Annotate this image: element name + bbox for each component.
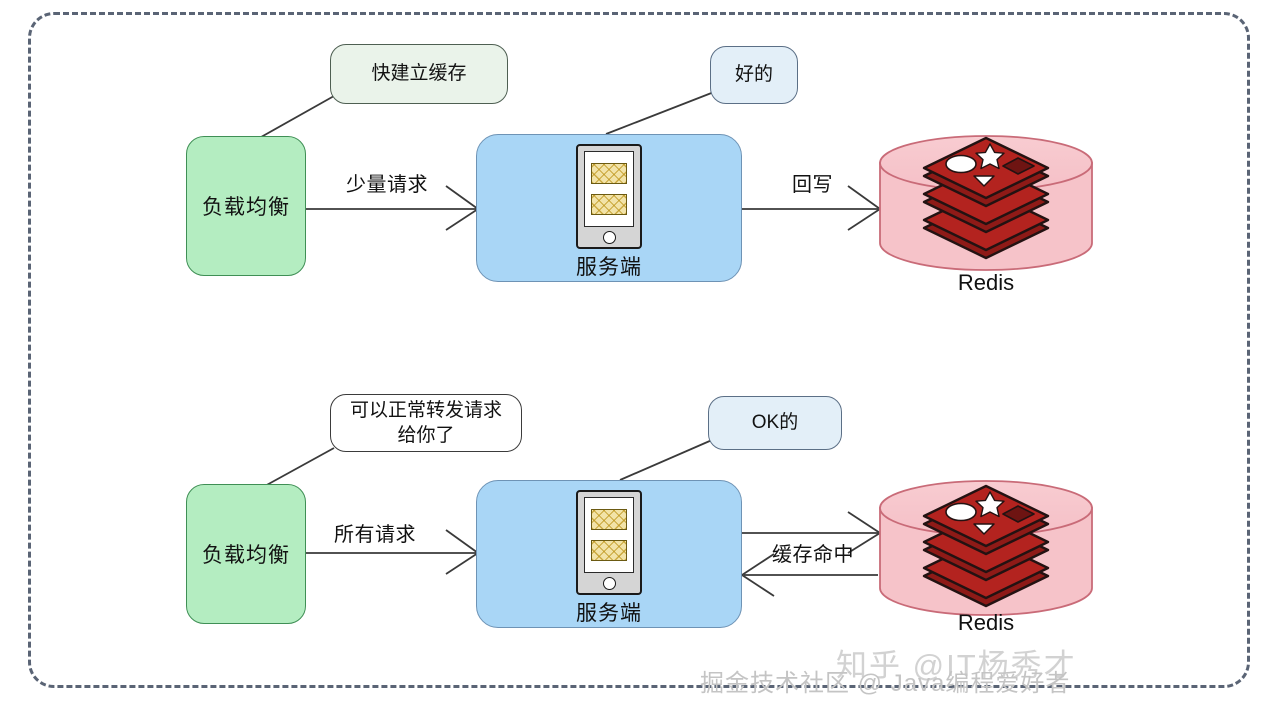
- edge-label-cache-hit-text: 缓存命中: [772, 544, 854, 566]
- load-balancer-top-label: 负载均衡: [202, 191, 290, 221]
- phone-device-icon-bottom: [576, 490, 642, 595]
- phone-home-button-bottom: [603, 577, 616, 590]
- server-top: 服务端: [476, 134, 742, 282]
- edge-label-cache-hit: 缓存命中: [772, 538, 854, 567]
- edge-label-few-requests: 少量请求: [346, 168, 428, 197]
- server-bottom: 服务端: [476, 480, 742, 628]
- phone-content-bar-2-top: [591, 194, 627, 215]
- edge-label-few-requests-text: 少量请求: [346, 174, 428, 196]
- server-bottom-label: 服务端: [576, 597, 642, 627]
- callout-build-cache-label: 快建立缓存: [371, 61, 466, 86]
- edge-label-all-requests: 所有请求: [334, 518, 416, 547]
- redis-caption-top: Redis: [906, 270, 1066, 296]
- callout-forward-requests-line1: 可以正常转发请求: [350, 398, 502, 423]
- callout-ok-top: 好的: [710, 46, 798, 104]
- callout-ok-top-label: 好的: [735, 62, 773, 87]
- redis-caption-bottom: Redis: [906, 610, 1066, 636]
- diagram-canvas: 快建立缓存 好的 负载均衡 服务端 少量请求 回写 Redis 可以正常转发请求…: [0, 0, 1280, 714]
- phone-home-button-top: [603, 231, 616, 244]
- load-balancer-bottom: 负载均衡: [186, 484, 306, 624]
- server-top-label: 服务端: [576, 251, 642, 281]
- phone-screen-bottom: [584, 497, 634, 573]
- load-balancer-top: 负载均衡: [186, 136, 306, 276]
- edge-label-write-back: 回写: [792, 168, 833, 197]
- edge-label-write-back-text: 回写: [792, 174, 833, 196]
- watermark-juejin: 掘金技术社区 @ Java编程爱好者: [700, 663, 1070, 698]
- callout-ok-bottom-label: OK的: [752, 410, 798, 435]
- callout-forward-requests: 可以正常转发请求 给你了: [330, 394, 522, 452]
- callout-ok-bottom: OK的: [708, 396, 842, 450]
- callout-build-cache: 快建立缓存: [330, 44, 508, 104]
- phone-device-icon-top: [576, 144, 642, 249]
- phone-content-bar-1-top: [591, 163, 627, 184]
- phone-content-bar-1-bottom: [591, 509, 627, 530]
- redis-caption-bottom-text: Redis: [958, 610, 1014, 635]
- load-balancer-bottom-label: 负载均衡: [202, 539, 290, 569]
- phone-screen-top: [584, 151, 634, 227]
- phone-content-bar-2-bottom: [591, 540, 627, 561]
- edge-label-all-requests-text: 所有请求: [334, 524, 416, 546]
- callout-forward-requests-line2: 给你了: [397, 423, 454, 448]
- redis-caption-top-text: Redis: [958, 270, 1014, 295]
